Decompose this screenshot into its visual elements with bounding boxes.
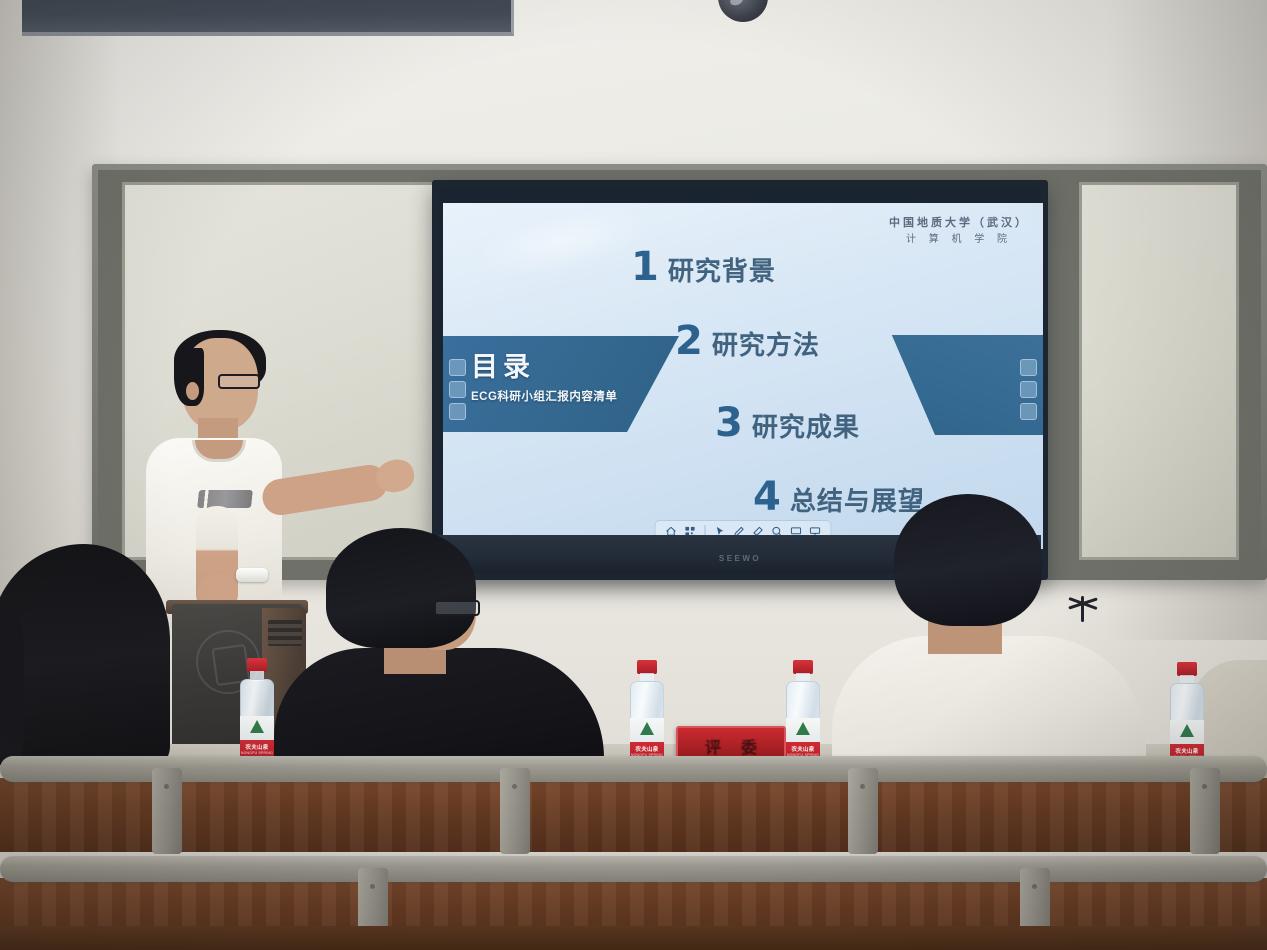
seat-rail (0, 756, 1267, 782)
water-bottle[interactable]: 农夫山泉 NONGFU SPRING (628, 660, 666, 768)
water-bottle[interactable]: 农夫山泉 NONGFU SPRING (238, 658, 276, 766)
audience-hair (894, 494, 1042, 626)
toc-number: 4 (753, 479, 781, 515)
slide-header-line2: 计 算 机 学 院 (889, 232, 1029, 248)
edge-button-3[interactable] (449, 403, 466, 420)
bottle-cap (1177, 662, 1197, 676)
ceiling-panel (22, 0, 514, 36)
presenter-glasses (218, 374, 260, 389)
seat-floor (0, 926, 1267, 950)
toc-label: 研究背景 (668, 251, 776, 288)
lecture-hall-scene: 中国地质大学（武汉） 计 算 机 学 院 目录 ECG科研小组汇报内容清单 1 … (0, 0, 1267, 950)
toc-label: 研究方法 (712, 325, 820, 362)
mountain-icon (1180, 724, 1194, 737)
toc-number: 1 (631, 249, 659, 285)
bottle-brand-cn: 农夫山泉 (630, 745, 664, 753)
nameplate-char-1: 评 (705, 734, 721, 758)
toc-item-2: 2 研究方法 (675, 323, 820, 362)
slide-header: 中国地质大学（武汉） 计 算 机 学 院 (889, 215, 1029, 248)
bottle-cap (637, 660, 657, 674)
edge-button-2[interactable] (1020, 381, 1037, 398)
audience-hair-strand (0, 614, 24, 764)
screen-glare (469, 203, 658, 289)
edge-button-1[interactable] (1020, 359, 1037, 376)
water-bottle[interactable]: 农夫山泉 NONGFU SPRING (1168, 662, 1206, 770)
edge-button-2[interactable] (449, 381, 466, 398)
edge-button-3[interactable] (1020, 403, 1037, 420)
audience-member-left (0, 544, 175, 774)
seat-post (152, 768, 182, 854)
nameplate-char-2: 委 (741, 734, 757, 758)
slide-section-title: 目录 (471, 345, 691, 384)
audience-member-center-left (274, 528, 604, 778)
bottle-brand-cn: 农夫山泉 (786, 745, 820, 753)
toc-label: 研究成果 (752, 407, 860, 444)
display-edge-buttons-left[interactable] (449, 359, 466, 420)
audience-hair (0, 544, 170, 774)
mountain-icon (796, 722, 810, 735)
display-edge-buttons-right[interactable] (1020, 359, 1037, 420)
slide-shape-right (863, 335, 1043, 435)
seat-post (848, 768, 878, 854)
seat-post (1190, 768, 1220, 854)
slide-header-line1: 中国地质大学（武汉） (889, 215, 1029, 232)
toc-number: 3 (715, 405, 743, 441)
bottle-cap (793, 660, 813, 674)
audience-glasses (434, 600, 480, 616)
bottle-brand-cn: 农夫山泉 (1170, 747, 1204, 755)
water-bottle[interactable]: 农夫山泉 NONGFU SPRING (784, 660, 822, 768)
audience-member-center-right (836, 494, 1146, 784)
slide-section-subtitle: ECG科研小组汇报内容清单 (471, 388, 691, 404)
bottle-brand-cn: 农夫山泉 (240, 743, 274, 751)
mountain-icon (250, 720, 264, 733)
bottle-cap (247, 658, 267, 672)
mountain-icon (640, 722, 654, 735)
seat-post (500, 768, 530, 854)
bottle-brand-en: NONGFU SPRING (240, 751, 274, 755)
display-brand: SEEWO (719, 554, 761, 563)
toc-item-3: 3 研究成果 (715, 405, 860, 444)
remote-clicker[interactable] (236, 568, 268, 582)
presenter-shirt-logo (197, 490, 253, 508)
audience-hair (326, 528, 476, 648)
slide-section-block: 目录 ECG科研小组汇报内容清单 (471, 345, 691, 404)
seat-backrest (0, 778, 1267, 852)
toc-item-1: 1 研究背景 (631, 249, 776, 288)
edge-button-1[interactable] (449, 359, 466, 376)
presenter-ear (186, 382, 199, 400)
seat-rail (0, 856, 1267, 882)
toc-number: 2 (675, 323, 703, 359)
